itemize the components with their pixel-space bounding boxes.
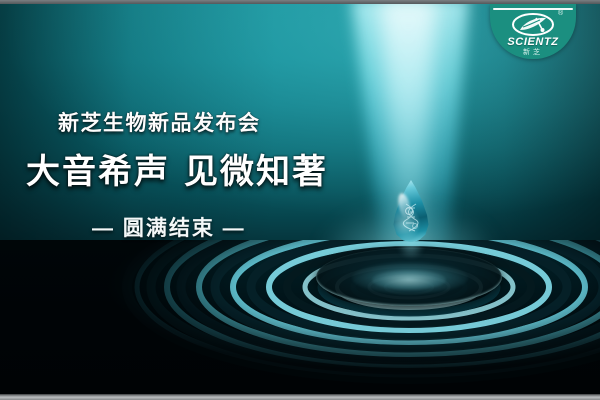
banner-scene: 新芝生物新品发布会 大音希声见微知著 — 圆满结束 — (0, 4, 600, 394)
logo-cn-name: 新芝 (490, 47, 576, 57)
title-left: 大音希声 (26, 154, 170, 191)
title-right: 见微知著 (184, 154, 328, 191)
registered-mark: ® (558, 10, 563, 17)
page-title: 大音希声见微知著 (26, 144, 328, 193)
status-badge: — 圆满结束 — (92, 212, 246, 242)
promo-banner: 新芝生物新品发布会 大音希声见微知著 — 圆满结束 — ® SCIENTZ 新芝 (0, 0, 600, 400)
event-kicker: 新芝生物新品发布会 (58, 107, 261, 137)
headline-group: 新芝生物新品发布会 大音希声见微知著 — 圆满结束 — (0, 4, 600, 394)
bottom-chrome-strip (0, 394, 600, 400)
top-chrome-strip (0, 0, 600, 4)
scientz-logo[interactable]: ® SCIENTZ 新芝 (490, 4, 576, 59)
scientz-flask-emblem-icon (511, 13, 555, 36)
